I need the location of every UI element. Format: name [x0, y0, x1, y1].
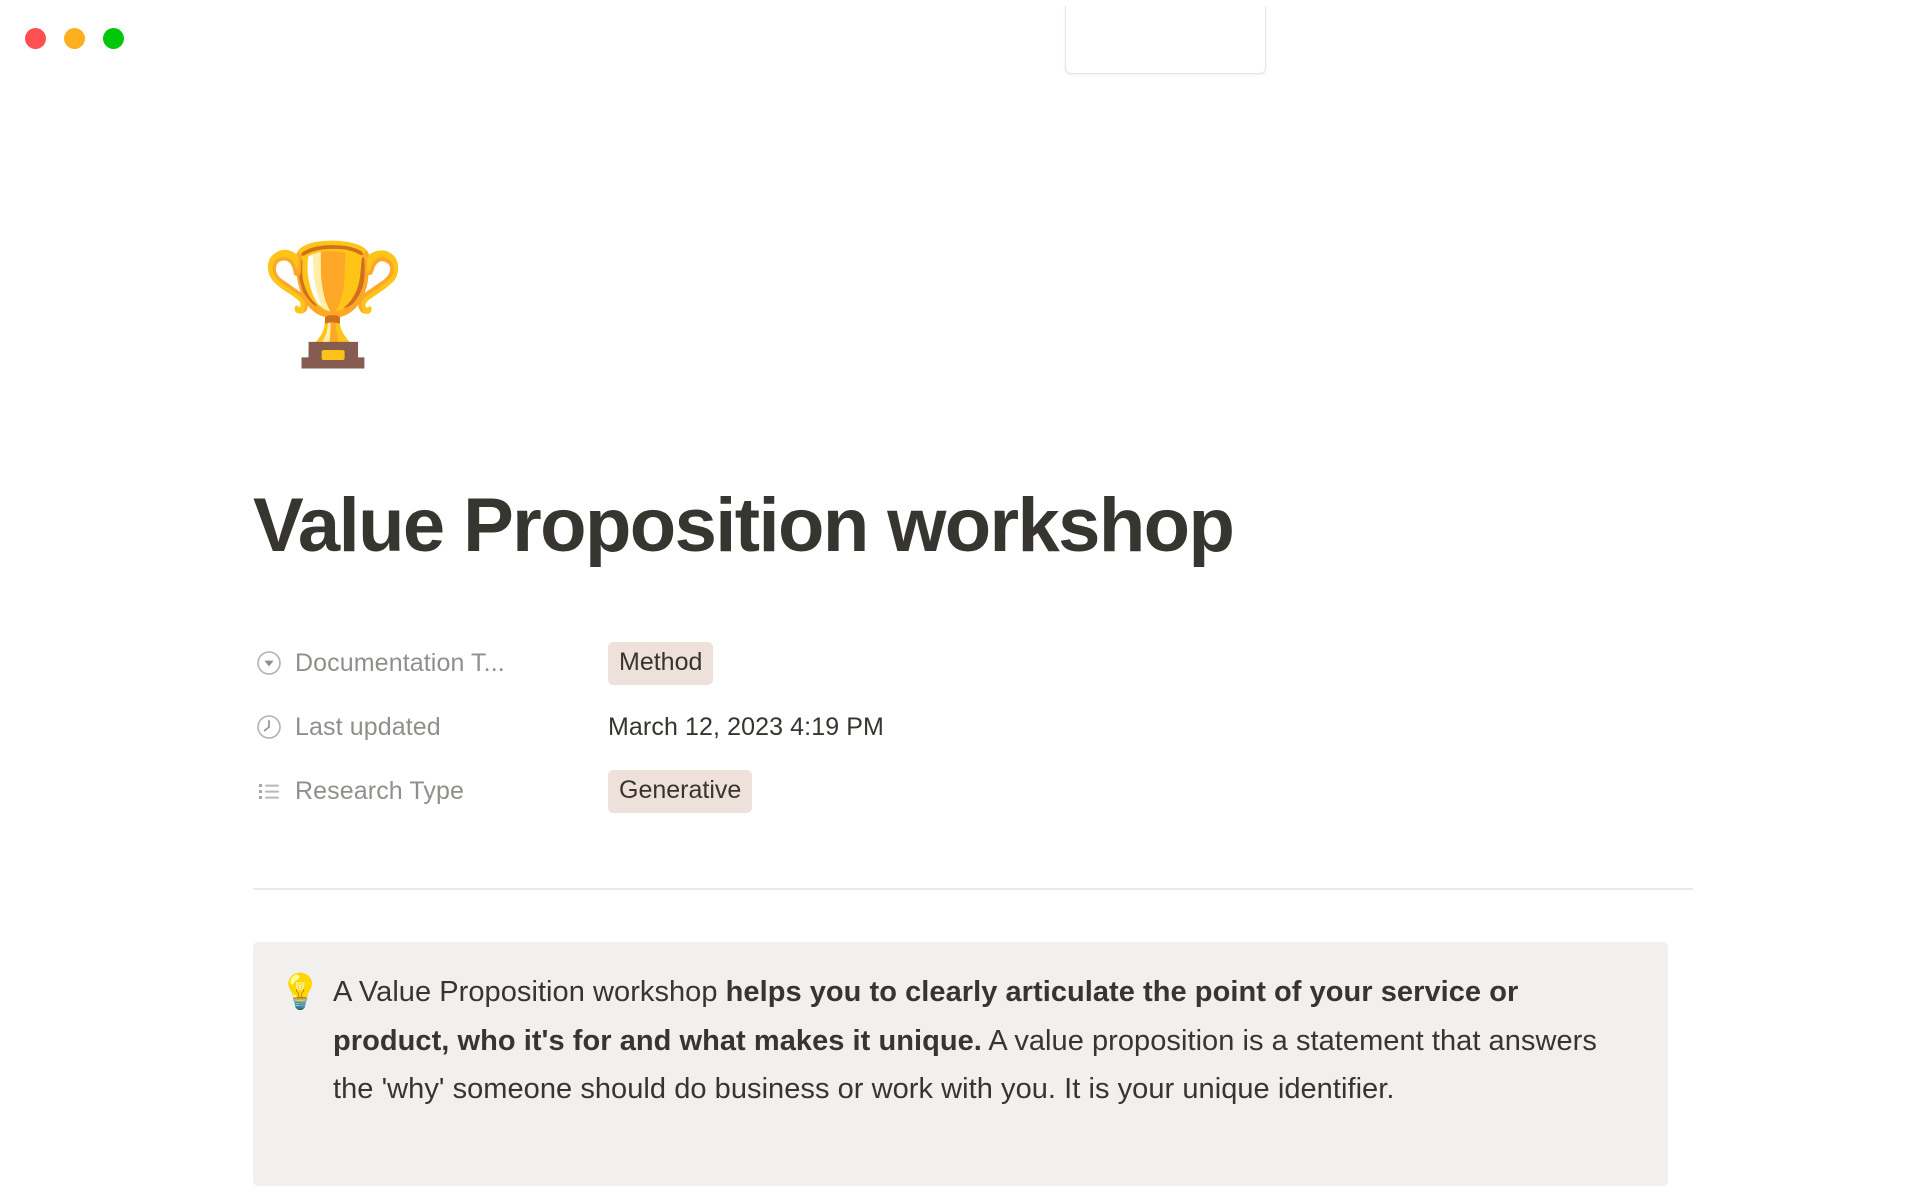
property-row-documentation-type[interactable]: Documentation T... Method — [255, 637, 1655, 689]
property-row-last-updated[interactable]: Last updated March 12, 2023 4:19 PM — [255, 701, 1655, 753]
traffic-light-buttons — [25, 28, 124, 49]
clock-icon — [255, 713, 283, 741]
page-properties: Documentation T... Method Last updated — [255, 637, 1655, 817]
property-value[interactable]: Method — [608, 642, 713, 685]
property-label: Research Type — [295, 777, 464, 806]
minimize-window-button[interactable] — [64, 28, 85, 49]
callout-plain-segment: A Value Proposition workshop — [333, 976, 726, 1008]
page-title[interactable]: Value Proposition workshop — [253, 488, 1233, 564]
top-floating-panel[interactable] — [1065, 6, 1266, 74]
property-label: Documentation T... — [295, 649, 505, 678]
multi-select-list-icon — [255, 777, 283, 805]
lightbulb-emoji: 💡 — [279, 968, 333, 1016]
callout-block[interactable]: 💡 A Value Proposition workshop helps you… — [253, 942, 1668, 1186]
property-label-group[interactable]: Research Type — [255, 777, 608, 806]
close-window-button[interactable] — [25, 28, 46, 49]
property-label: Last updated — [295, 713, 441, 742]
last-updated-value[interactable]: March 12, 2023 4:19 PM — [608, 713, 884, 742]
trophy-emoji[interactable]: 🏆 — [260, 246, 407, 364]
select-dropdown-icon — [255, 649, 283, 677]
property-value[interactable]: Generative — [608, 770, 752, 813]
property-value[interactable]: March 12, 2023 4:19 PM — [608, 713, 884, 742]
documentation-type-pill[interactable]: Method — [608, 642, 713, 685]
callout-text[interactable]: A Value Proposition workshop helps you t… — [333, 968, 1628, 1114]
property-row-research-type[interactable]: Research Type Generative — [255, 765, 1655, 817]
property-label-group[interactable]: Documentation T... — [255, 649, 608, 678]
window-chrome — [0, 0, 1920, 92]
property-label-group[interactable]: Last updated — [255, 713, 608, 742]
content-divider — [253, 888, 1693, 890]
maximize-window-button[interactable] — [103, 28, 124, 49]
research-type-pill[interactable]: Generative — [608, 770, 752, 813]
